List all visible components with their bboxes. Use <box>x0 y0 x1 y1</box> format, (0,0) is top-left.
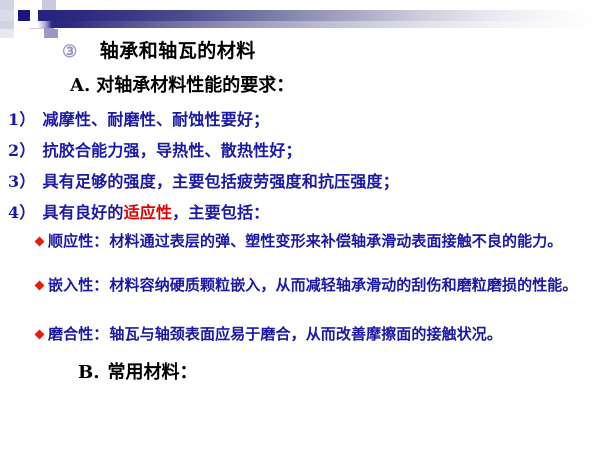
list-item: 嵌入性：材料容纳硬质颗粒嵌入，从而减轻轴承滑动的刮伤和磨粒磨损的性能。 <box>36 274 588 296</box>
section-a-text: 对轴承材料性能的要求： <box>96 75 294 96</box>
diamond-bullet-icon <box>35 281 45 291</box>
list-item: 1）减摩性、耐磨性、耐蚀性要好； <box>8 106 269 130</box>
bullet-text: 材料通过表层的弹、塑性变形来补偿轴承滑动表面接触不良的能力。 <box>109 232 562 250</box>
bullet-term: 磨合性： <box>48 325 109 343</box>
list-item: 4）具有良好的适应性，主要包括： <box>8 199 269 223</box>
diamond-bullet-icon <box>35 237 45 247</box>
slide-content: ③轴承和轴瓦的材料 A.对轴承材料性能的要求： 1）减摩性、耐磨性、耐蚀性要好；… <box>0 0 600 450</box>
section-b-label: B. <box>78 362 107 383</box>
bullet-term: 嵌入性： <box>48 276 109 294</box>
highlighted-term: 适应性 <box>124 203 173 222</box>
list-item-text: 抗胶合能力强，导热性、散热性好； <box>43 141 302 160</box>
list-marker: 4） <box>8 203 43 222</box>
bullet-text: 轴瓦与轴颈表面应易于磨合，从而改善摩擦面的接触状况。 <box>109 325 502 343</box>
list-item-text: 减摩性、耐磨性、耐蚀性要好； <box>43 110 270 129</box>
section-a-label: A. <box>70 75 96 96</box>
list-item-text-tail: ，主要包括： <box>172 203 269 222</box>
list-item-text: 具有良好的 <box>43 203 124 222</box>
section-heading-b: B.常用材料： <box>78 358 197 384</box>
section-b-text: 常用材料： <box>107 362 197 383</box>
title-text: 轴承和轴瓦的材料 <box>100 40 256 62</box>
list-marker: 2） <box>8 141 43 160</box>
bullet-text: 材料容纳硬质颗粒嵌入，从而减轻轴承滑动的刮伤和磨粒磨损的性能。 <box>109 276 577 294</box>
title-number: ③ <box>62 42 100 62</box>
list-item: 磨合性：轴瓦与轴颈表面应易于磨合，从而改善摩擦面的接触状况。 <box>36 323 588 345</box>
list-marker: 3） <box>8 172 43 191</box>
diamond-bullet-icon <box>35 330 45 340</box>
list-item-text: 具有足够的强度，主要包括疲劳强度和抗压强度； <box>43 172 399 191</box>
section-heading-a: A.对轴承材料性能的要求： <box>70 71 294 97</box>
list-item: 3）具有足够的强度，主要包括疲劳强度和抗压强度； <box>8 168 399 192</box>
bullet-term: 顺应性： <box>48 232 109 250</box>
page-title: ③轴承和轴瓦的材料 <box>62 36 256 63</box>
list-item: 顺应性：材料通过表层的弹、塑性变形来补偿轴承滑动表面接触不良的能力。 <box>36 230 588 252</box>
list-item: 2）抗胶合能力强，导热性、散热性好； <box>8 137 302 161</box>
list-marker: 1） <box>8 110 43 129</box>
